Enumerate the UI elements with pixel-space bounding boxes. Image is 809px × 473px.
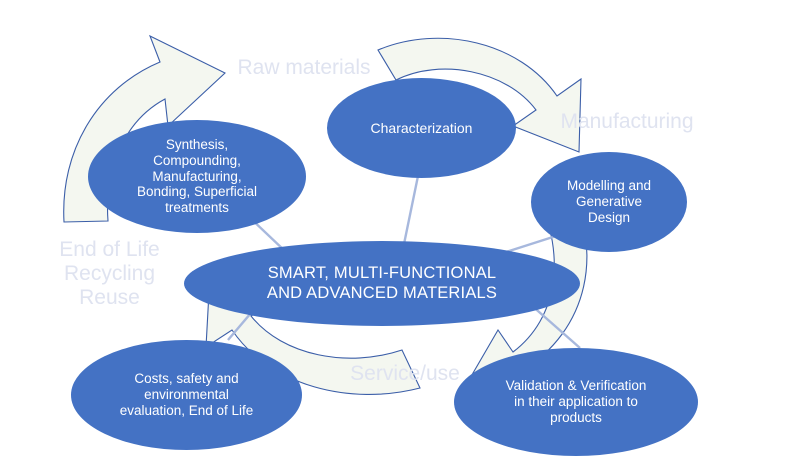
node-modelling-generative-design[interactable]: Modelling and Generative Design (531, 152, 687, 252)
connector-characterization (404, 176, 418, 244)
node-synthesis-compounding-label: Synthesis, Compounding, Manufacturing, B… (131, 137, 263, 217)
node-costs-safety-environment[interactable]: Costs, safety and environmental evaluati… (71, 340, 302, 450)
connector-modelling (506, 236, 556, 252)
node-center-label: SMART, MULTI-FUNCTIONAL AND ADVANCED MAT… (261, 264, 503, 303)
node-validation-verification[interactable]: Validation & Verification in their appli… (454, 348, 698, 456)
node-characterization[interactable]: Characterization (327, 78, 516, 178)
diagram-canvas: Raw materials Manufacturing Service/use … (0, 0, 809, 473)
node-costs-safety-environment-label: Costs, safety and environmental evaluati… (114, 371, 260, 419)
node-smart-multifunctional-advanced-materials[interactable]: SMART, MULTI-FUNCTIONAL AND ADVANCED MAT… (184, 241, 580, 326)
node-synthesis-compounding[interactable]: Synthesis, Compounding, Manufacturing, B… (88, 120, 306, 233)
node-characterization-label: Characterization (365, 120, 479, 137)
node-modelling-generative-design-label: Modelling and Generative Design (561, 178, 657, 226)
node-validation-verification-label: Validation & Verification in their appli… (500, 378, 653, 426)
